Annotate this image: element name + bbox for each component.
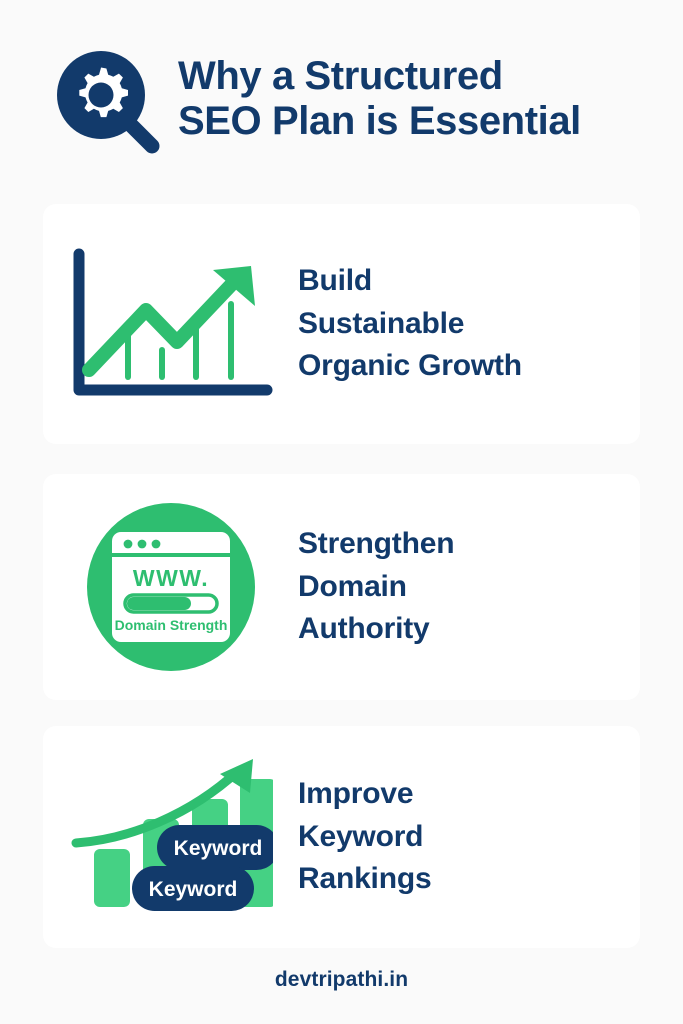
card-improve-keyword-rankings: Keyword Keyword Improve Keyword Rankings: [43, 726, 640, 948]
card-2-title-line-3: Authority: [298, 608, 454, 651]
gear-magnifier-icon: [56, 50, 160, 154]
page-title-line-1: Why a Structured: [178, 54, 581, 99]
card-build-sustainable-organic-growth: Build Sustainable Organic Growth: [43, 204, 640, 444]
card-2-title: Strengthen Domain Authority: [298, 523, 454, 651]
card-3-title-line-1: Improve: [298, 773, 431, 816]
header: Why a Structured SEO Plan is Essential: [56, 48, 656, 154]
footer-website: devtripathi.in: [0, 968, 683, 992]
card-1-icon-wrap: [43, 244, 298, 404]
browser-dots-icon: [123, 540, 160, 549]
card-2-title-line-2: Domain: [298, 566, 454, 609]
card-3-icon-wrap: Keyword Keyword: [43, 757, 298, 917]
keyword-rankings-chart-icon: Keyword Keyword: [68, 757, 273, 917]
domain-strength-meter-fill: [127, 597, 191, 610]
card-1-title-line-3: Organic Growth: [298, 345, 522, 388]
keyword-pill-upper: Keyword: [157, 825, 273, 870]
domain-authority-browser-icon: WWW. Domain Strength: [86, 502, 256, 672]
card-3-title-line-2: Keyword: [298, 816, 431, 859]
keyword-pill-lower-label: Keyword: [149, 878, 238, 901]
card-2-icon-wrap: WWW. Domain Strength: [43, 502, 298, 672]
card-3-title-line-3: Rankings: [298, 858, 431, 901]
infographic-page: Why a Structured SEO Plan is Essential: [0, 0, 683, 1024]
card-1-title-line-2: Sustainable: [298, 303, 522, 346]
domain-strength-label: Domain Strength: [114, 617, 227, 633]
growth-chart-icon: [65, 244, 277, 404]
card-3-title: Improve Keyword Rankings: [298, 773, 431, 901]
page-title-line-2: SEO Plan is Essential: [178, 99, 581, 144]
card-1-title-line-1: Build: [298, 260, 522, 303]
page-title: Why a Structured SEO Plan is Essential: [178, 48, 581, 144]
card-strengthen-domain-authority: WWW. Domain Strength Strengthen Domain A…: [43, 474, 640, 700]
keyword-pill-upper-label: Keyword: [174, 837, 263, 860]
keyword-pill-lower: Keyword: [132, 866, 254, 911]
card-2-title-line-1: Strengthen: [298, 523, 454, 566]
browser-url-text: WWW.: [132, 565, 208, 591]
card-1-title: Build Sustainable Organic Growth: [298, 260, 522, 388]
